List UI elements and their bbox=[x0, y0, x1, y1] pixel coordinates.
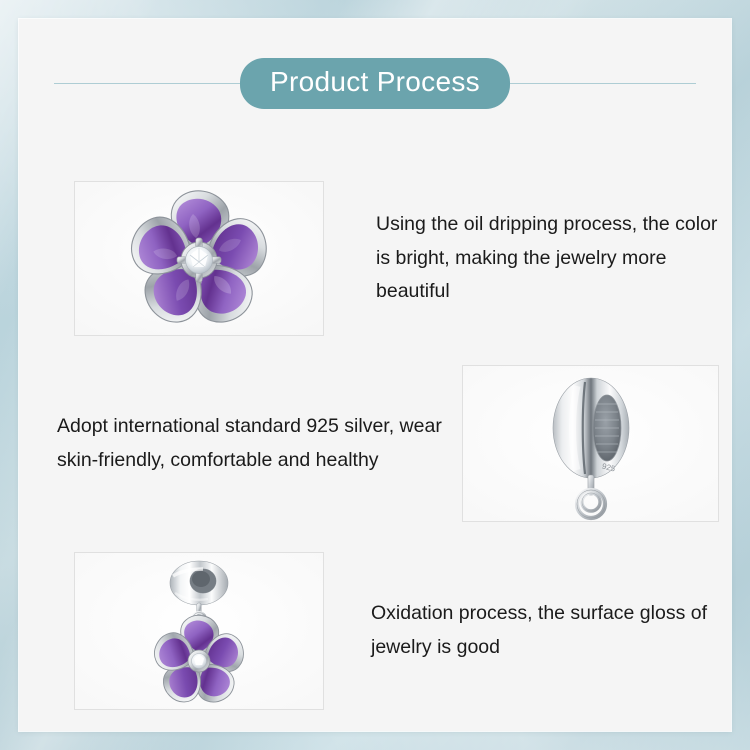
process-section-silver-standard: Adopt international standard 925 silver,… bbox=[57, 365, 719, 522]
silver-spacer-bead-photo: 925 bbox=[462, 365, 719, 522]
flower-dangle-charm-photo bbox=[74, 552, 324, 710]
purple-flower-charm-photo bbox=[74, 181, 324, 336]
process-section-oil-dripping: Using the oil dripping process, the colo… bbox=[74, 181, 719, 336]
title-rule-right bbox=[506, 83, 696, 84]
product-process-poster: Product Process bbox=[0, 0, 750, 750]
title-rule-left bbox=[54, 83, 244, 84]
content-panel: Product Process bbox=[19, 19, 731, 731]
page-title: Product Process bbox=[240, 58, 510, 109]
process-section-oxidation: Oxidation process, the surface gloss of … bbox=[74, 552, 719, 710]
flower-dangle-charm-illustration bbox=[75, 553, 323, 709]
process-caption-oxidation: Oxidation process, the surface gloss of … bbox=[371, 597, 711, 664]
page-title-row: Product Process bbox=[19, 61, 731, 105]
process-caption-silver-standard: Adopt international standard 925 silver,… bbox=[57, 410, 448, 477]
silver-spacer-bead-illustration: 925 bbox=[463, 366, 718, 521]
purple-flower-charm-illustration bbox=[75, 182, 323, 335]
process-caption-oil-dripping: Using the oil dripping process, the colo… bbox=[376, 208, 719, 309]
